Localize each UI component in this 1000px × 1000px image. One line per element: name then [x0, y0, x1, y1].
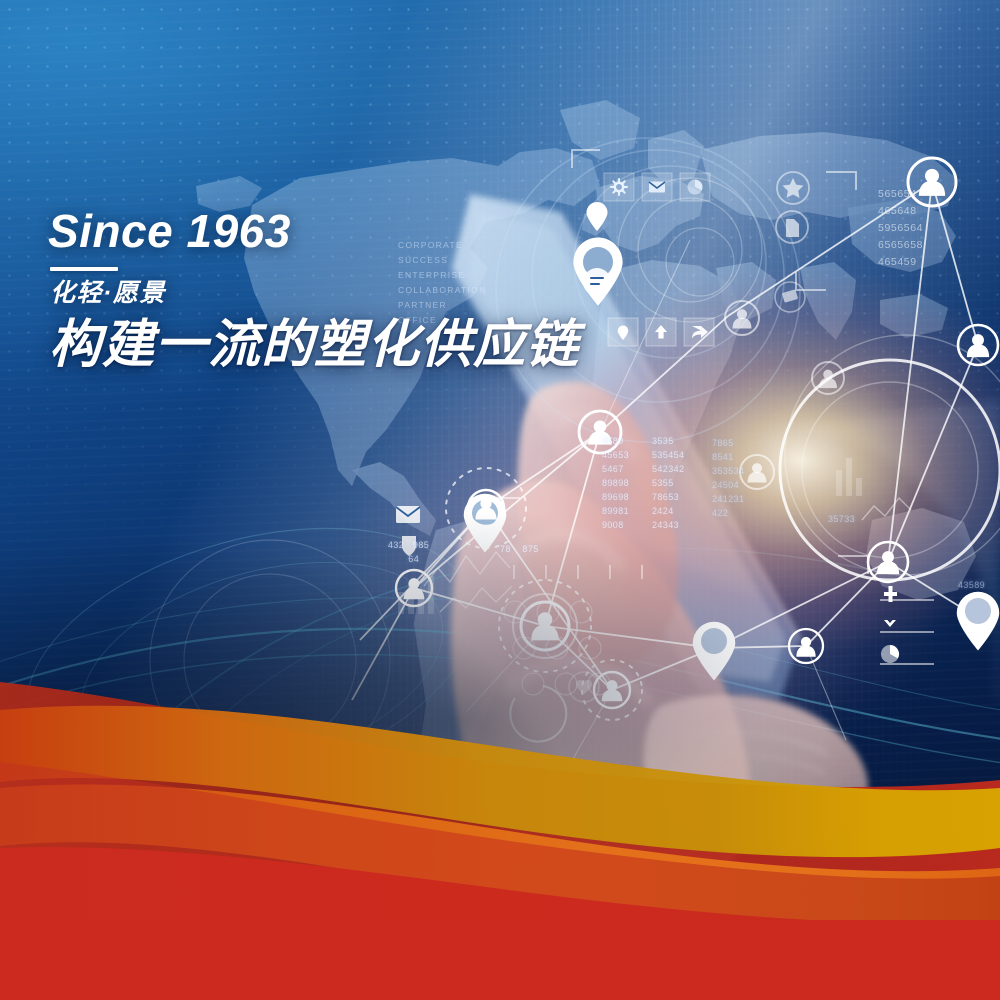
banner-image: CORPORATE SUCCESS ENTERPRISE COLLABORATI…: [0, 0, 1000, 1000]
subtitle: 化轻·愿景: [50, 280, 688, 308]
eyebrow-since: Since 1963: [48, 208, 688, 254]
page-title: 构建一流的塑化供应链: [49, 316, 688, 374]
wave-footer: [0, 670, 1000, 1000]
headline-divider: [50, 267, 118, 271]
headline-block: Since 1963 化轻·愿景 构建一流的塑化供应链: [48, 208, 688, 374]
